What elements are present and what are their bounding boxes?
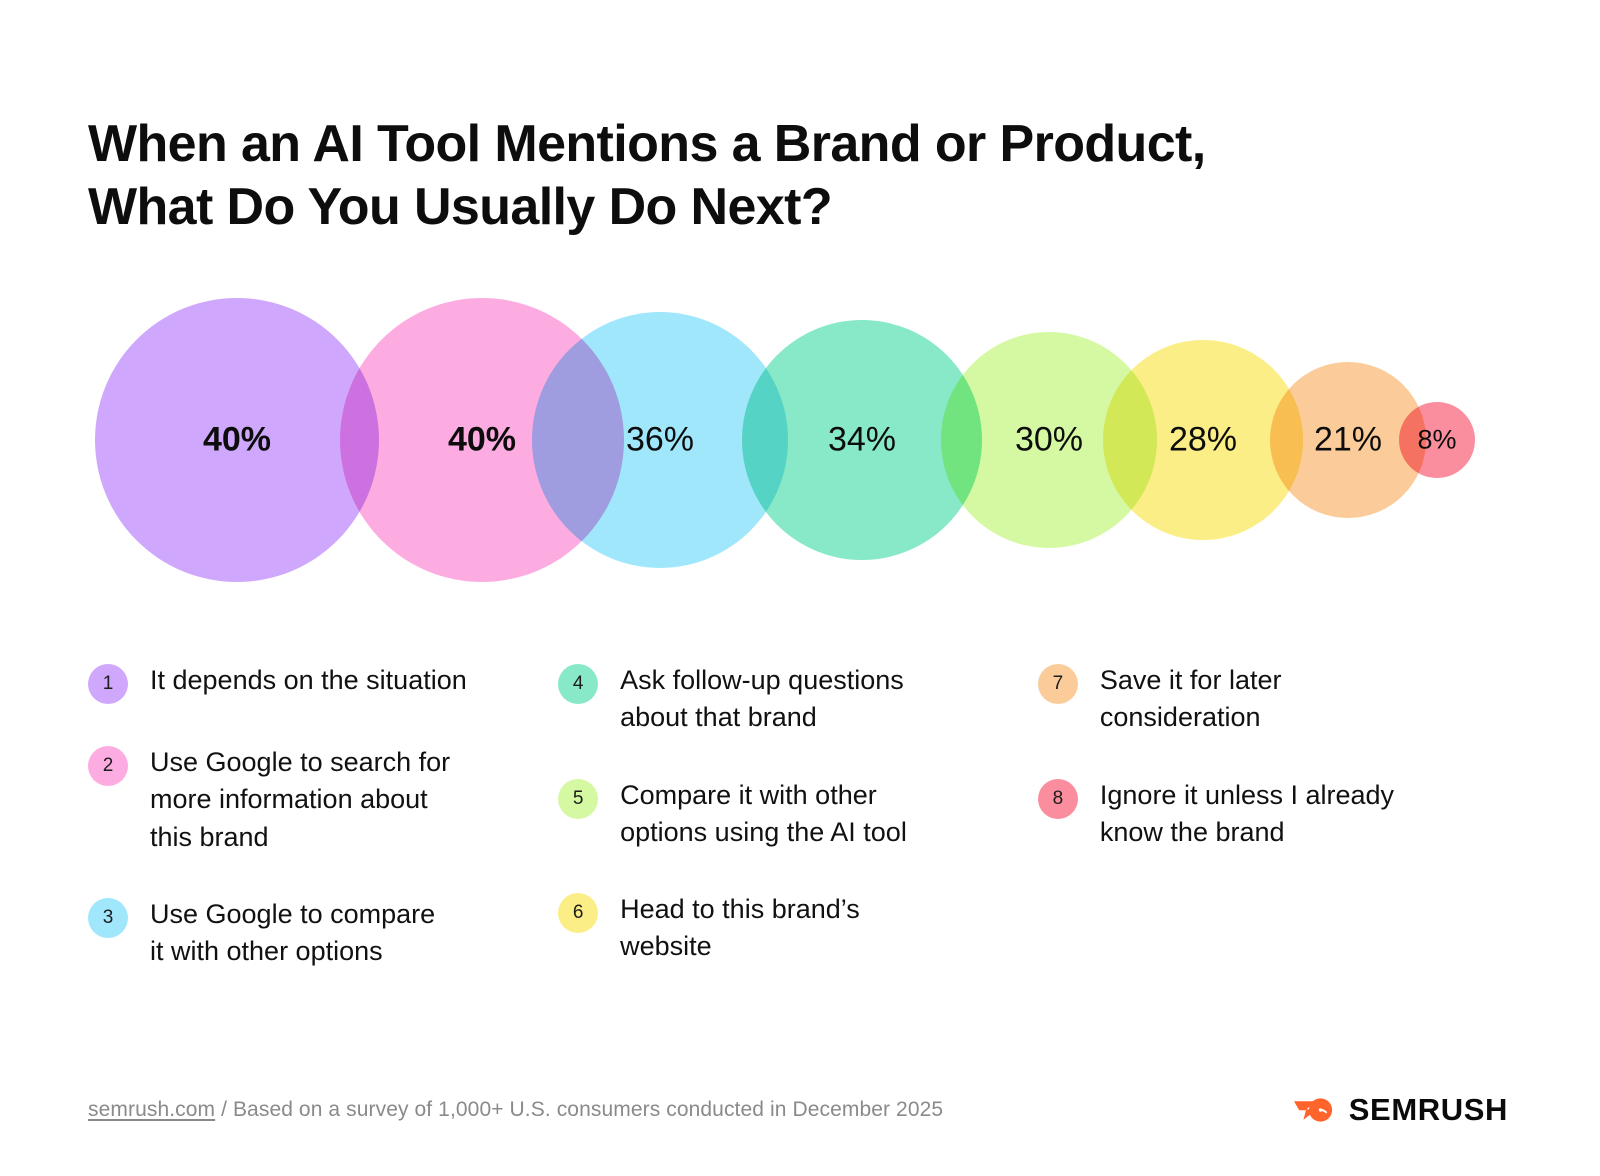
legend-number-badge-7: 7 — [1038, 664, 1078, 704]
semrush-mark-icon — [1294, 1095, 1336, 1125]
legend-item-1[interactable]: 1It depends on the situation — [88, 662, 558, 704]
legend-label-1: It depends on the situation — [150, 662, 467, 699]
legend-item-6[interactable]: 6Head to this brand’s website — [558, 891, 1038, 966]
legend-number-badge-6: 6 — [558, 893, 598, 933]
legend-label-2: Use Google to search for more informatio… — [150, 744, 450, 856]
legend-label-5: Compare it with other options using the … — [620, 777, 907, 852]
bubble-value-label-3: 36% — [626, 421, 694, 460]
footer-source-text: semrush.com / Based on a survey of 1,000… — [88, 1098, 943, 1122]
legend-item-5[interactable]: 5Compare it with other options using the… — [558, 777, 1038, 852]
legend-number-badge-4: 4 — [558, 664, 598, 704]
legend-item-8[interactable]: 8Ignore it unless I already know the bra… — [1038, 777, 1508, 852]
legend-item-7[interactable]: 7Save it for later consideration — [1038, 662, 1508, 737]
bubble-value-label-4: 34% — [828, 421, 896, 460]
semrush-logo[interactable]: SEMRUSH — [1294, 1092, 1508, 1128]
legend-item-3[interactable]: 3Use Google to compare it with other opt… — [88, 896, 558, 971]
bubble-value-label-8: 8% — [1417, 425, 1456, 456]
footer-survey-note: Based on a survey of 1,000+ U.S. consume… — [233, 1098, 943, 1121]
legend-column-2: 4Ask follow-up questions about that bran… — [558, 662, 1038, 1010]
bubble-value-label-1: 40% — [203, 421, 271, 460]
legend-column-1: 1It depends on the situation2Use Google … — [88, 662, 558, 1010]
legend-number-badge-3: 3 — [88, 898, 128, 938]
footer-separator: / — [215, 1098, 233, 1121]
legend-number-badge-1: 1 — [88, 664, 128, 704]
legend-label-6: Head to this brand’s website — [620, 891, 860, 966]
legend-item-2[interactable]: 2Use Google to search for more informati… — [88, 744, 558, 856]
legend-column-3: 7Save it for later consideration8Ignore … — [1038, 662, 1508, 1010]
infographic-page: When an AI Tool Mentions a Brand or Prod… — [0, 0, 1600, 1176]
legend: 1It depends on the situation2Use Google … — [88, 662, 1508, 1010]
page-title: When an AI Tool Mentions a Brand or Prod… — [88, 113, 1388, 240]
legend-item-4[interactable]: 4Ask follow-up questions about that bran… — [558, 662, 1038, 737]
bubble-value-label-7: 21% — [1314, 421, 1382, 460]
legend-label-8: Ignore it unless I already know the bran… — [1100, 777, 1394, 852]
bubble-value-label-2: 40% — [448, 421, 516, 460]
legend-number-badge-8: 8 — [1038, 779, 1078, 819]
bubble-value-label-5: 30% — [1015, 421, 1083, 460]
semrush-domain-link[interactable]: semrush.com — [88, 1098, 215, 1121]
legend-number-badge-5: 5 — [558, 779, 598, 819]
legend-label-4: Ask follow-up questions about that brand — [620, 662, 904, 737]
footer: semrush.com / Based on a survey of 1,000… — [88, 1092, 1508, 1128]
semrush-wordmark: SEMRUSH — [1349, 1092, 1508, 1128]
legend-number-badge-2: 2 — [88, 746, 128, 786]
legend-label-7: Save it for later consideration — [1100, 662, 1282, 737]
legend-label-3: Use Google to compare it with other opti… — [150, 896, 435, 971]
bubble-value-label-6: 28% — [1169, 421, 1237, 460]
